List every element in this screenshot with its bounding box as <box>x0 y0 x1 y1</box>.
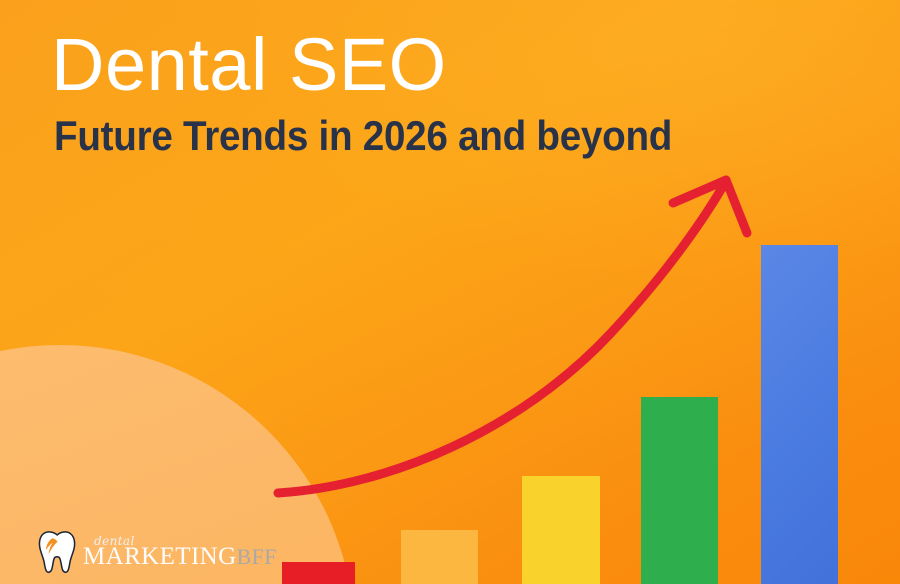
tooth-icon <box>38 530 76 574</box>
header-block: Dental SEO Future Trends in 2026 and bey… <box>51 22 726 160</box>
poster-canvas: Dental SEO Future Trends in 2026 and bey… <box>0 0 900 584</box>
chart-bar-5 <box>761 245 838 584</box>
logo-word-secondary: BFF <box>237 544 277 569</box>
brand-logo[interactable]: dental MARKETINGBFF <box>38 530 277 574</box>
page-title: Dental SEO <box>51 22 726 108</box>
logo-script-word: dental <box>94 535 135 547</box>
chart-bar-1 <box>282 562 355 584</box>
chart-bar-2 <box>401 530 478 584</box>
logo-wordmark: dental MARKETINGBFF <box>83 536 277 569</box>
chart-bar-3 <box>522 476 600 584</box>
page-subtitle: Future Trends in 2026 and beyond <box>54 112 672 160</box>
chart-bar-4 <box>641 397 718 584</box>
